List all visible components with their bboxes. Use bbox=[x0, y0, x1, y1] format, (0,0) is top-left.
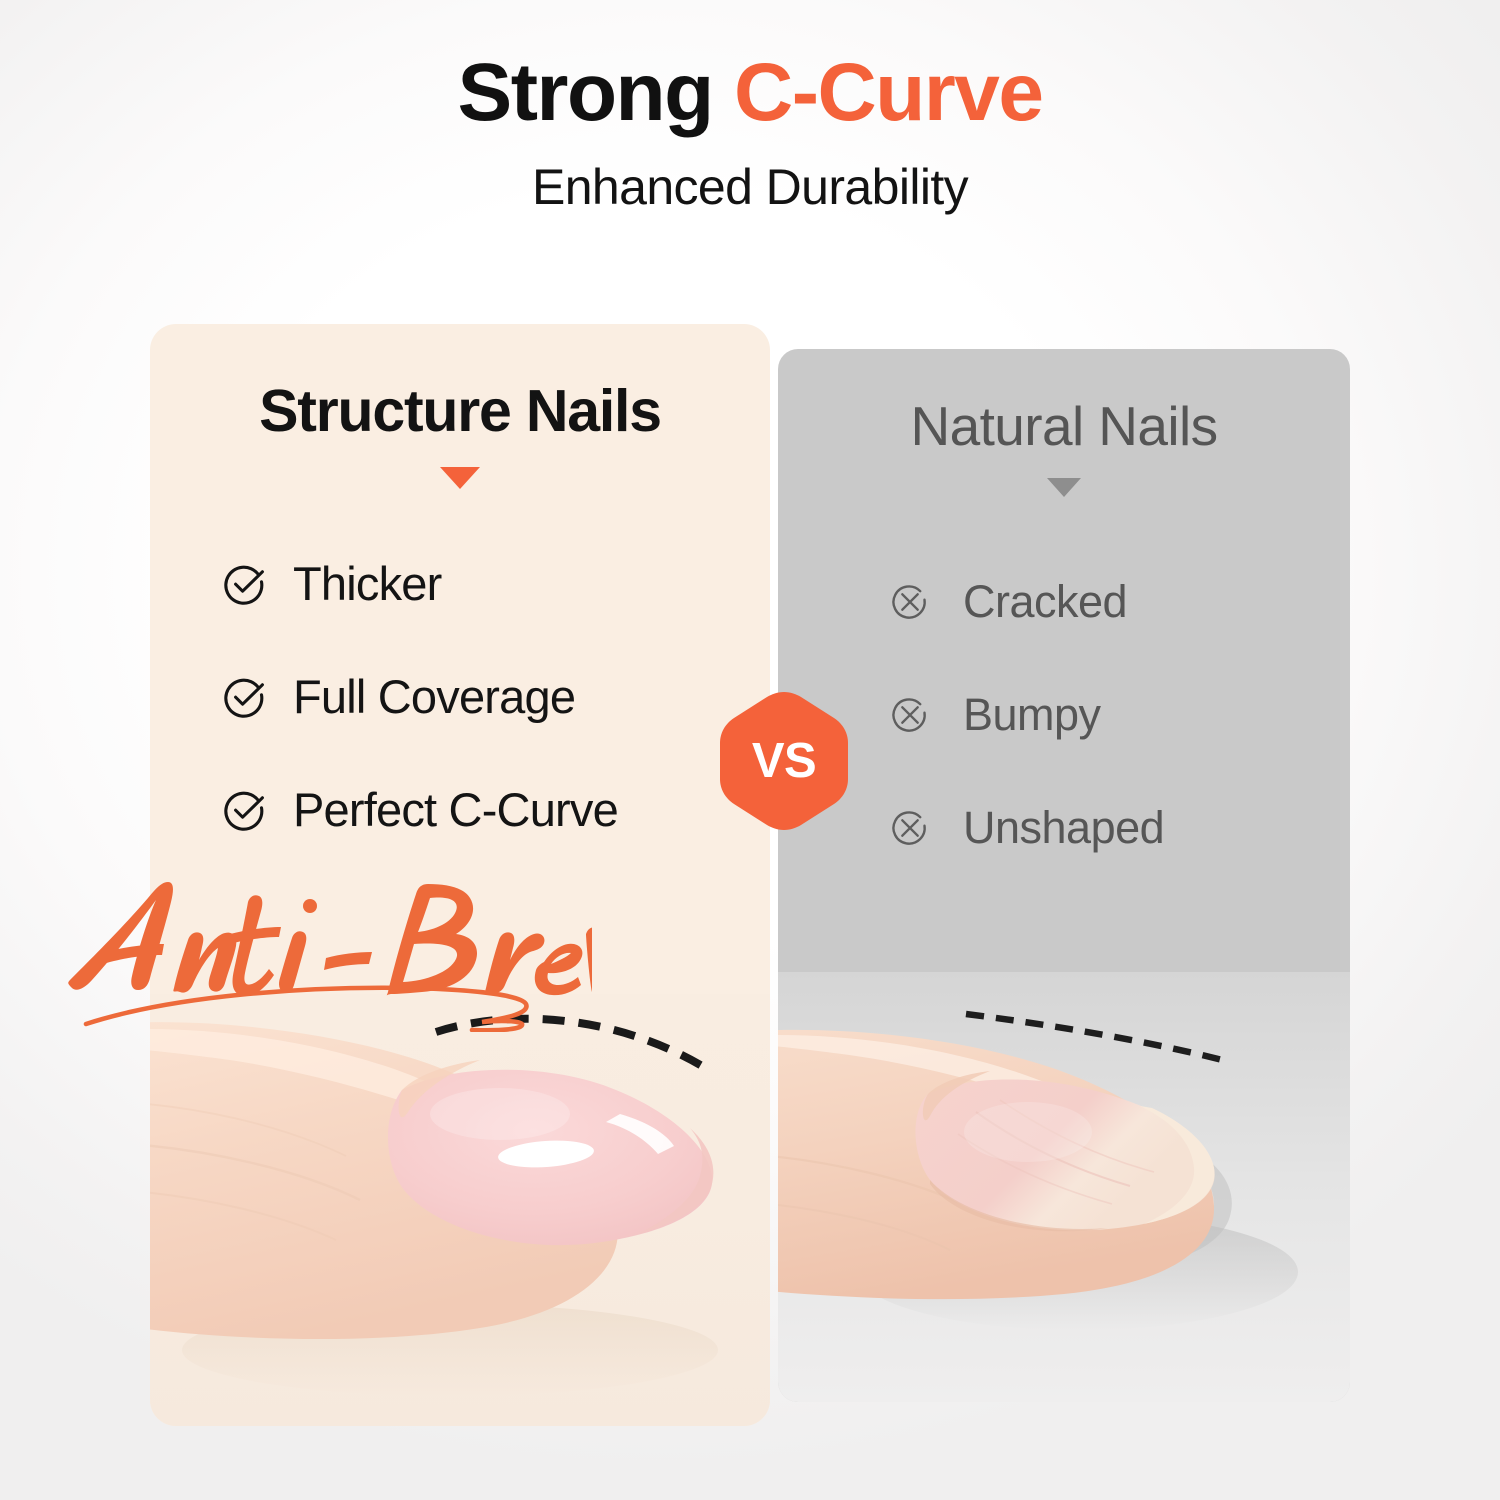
check-circle-icon bbox=[221, 560, 269, 608]
caret-down-icon bbox=[440, 467, 480, 489]
list-item: Thicker bbox=[150, 527, 770, 640]
list-item: Full Coverage bbox=[150, 640, 770, 753]
page-title: Strong C-Curve bbox=[0, 52, 1500, 134]
natural-nails-panel: Natural Nails Cracked bbox=[778, 349, 1350, 1402]
page-subtitle: Enhanced Durability bbox=[0, 162, 1500, 212]
natural-nails-title: Natural Nails bbox=[778, 399, 1350, 454]
list-item: Cracked bbox=[778, 545, 1350, 658]
check-circle-icon bbox=[221, 786, 269, 834]
list-item: Perfect C-Curve bbox=[150, 753, 770, 866]
structure-nail-photo bbox=[150, 994, 770, 1426]
page-title-accent: C-Curve bbox=[734, 47, 1042, 138]
structure-nails-feature-list: Thicker Full Coverage bbox=[150, 527, 770, 866]
list-item-label: Perfect C-Curve bbox=[293, 786, 618, 833]
vs-badge: VS bbox=[714, 688, 854, 834]
list-item-label: Cracked bbox=[963, 579, 1127, 624]
x-circle-icon bbox=[888, 580, 932, 624]
list-item-label: Bumpy bbox=[963, 692, 1101, 737]
header: Strong C-Curve Enhanced Durability bbox=[0, 52, 1500, 212]
list-item-label: Thicker bbox=[293, 560, 441, 607]
list-item-label: Full Coverage bbox=[293, 673, 575, 720]
vs-label: VS bbox=[714, 688, 854, 834]
page-title-primary: Strong bbox=[458, 47, 734, 138]
list-item-label: Unshaped bbox=[963, 805, 1164, 850]
list-item: Bumpy bbox=[778, 658, 1350, 771]
check-circle-icon bbox=[221, 673, 269, 721]
curved-dashed-line bbox=[436, 1019, 712, 1072]
x-circle-icon bbox=[888, 806, 932, 850]
list-item: Unshaped bbox=[778, 771, 1350, 884]
natural-nails-feature-list: Cracked Bumpy Unshaped bbox=[778, 545, 1350, 884]
structure-nails-panel: Structure Nails Thicker bbox=[150, 324, 770, 1426]
caret-down-icon bbox=[1047, 478, 1081, 497]
structure-nails-title: Structure Nails bbox=[150, 382, 770, 441]
infographic-canvas: Strong C-Curve Enhanced Durability Struc… bbox=[0, 0, 1500, 1500]
natural-nail-photo bbox=[778, 972, 1350, 1402]
x-circle-icon bbox=[888, 693, 932, 737]
